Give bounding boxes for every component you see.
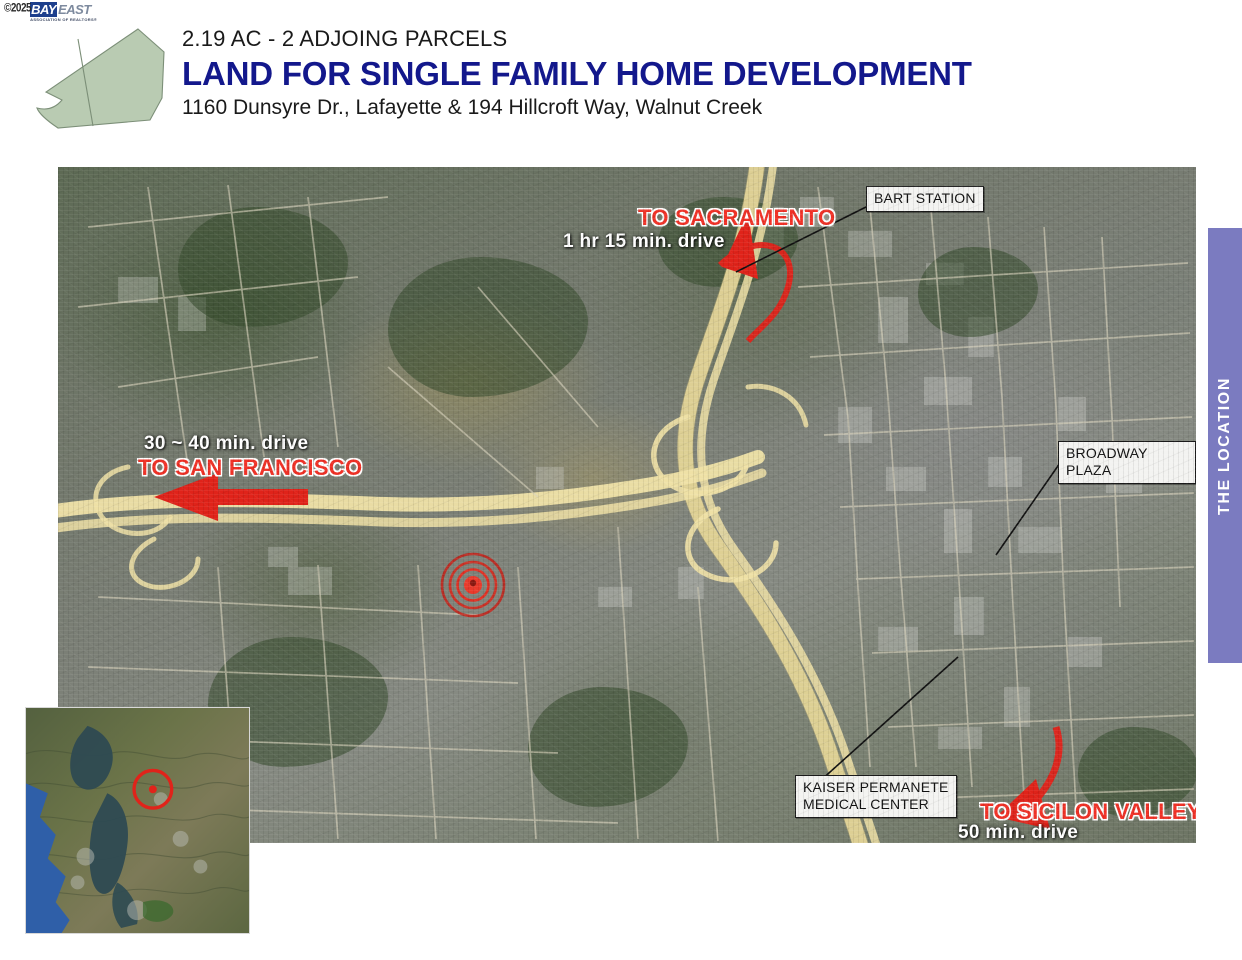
logo-tagline: ASSOCIATION OF REALTORS® (30, 17, 97, 22)
logo-bay-text: BAY (30, 2, 57, 17)
page-title: LAND FOR SINGLE FAMILY HOME DEVELOPMENT (182, 54, 972, 94)
acreage-eyebrow: 2.19 AC - 2 ADJOING PARCELS (182, 26, 972, 52)
parcel-outline-icon (22, 26, 172, 130)
logo-wordmark: BAY EAST (30, 2, 97, 17)
property-address: 1160 Dunsyre Dr., Lafayette & 194 Hillcr… (182, 95, 972, 121)
logo-east-text: EAST (58, 2, 91, 17)
header-title-block: 2.19 AC - 2 ADJOING PARCELS LAND FOR SIN… (182, 26, 972, 121)
inset-map-graphic (26, 708, 249, 933)
flyer-page: ©2025 BAY EAST ASSOCIATION OF REALTORS® … (0, 0, 1242, 960)
logo-mark: BAY EAST ASSOCIATION OF REALTORS® (30, 2, 97, 22)
section-tab-label: THE LOCATION (1216, 376, 1234, 514)
section-tab-the-location: THE LOCATION (1208, 228, 1242, 663)
copyright-text: ©2025 (4, 1, 31, 17)
bay-east-logo: ©2025 BAY EAST ASSOCIATION OF REALTORS® (4, 2, 120, 28)
regional-inset-map[interactable] (25, 707, 250, 934)
